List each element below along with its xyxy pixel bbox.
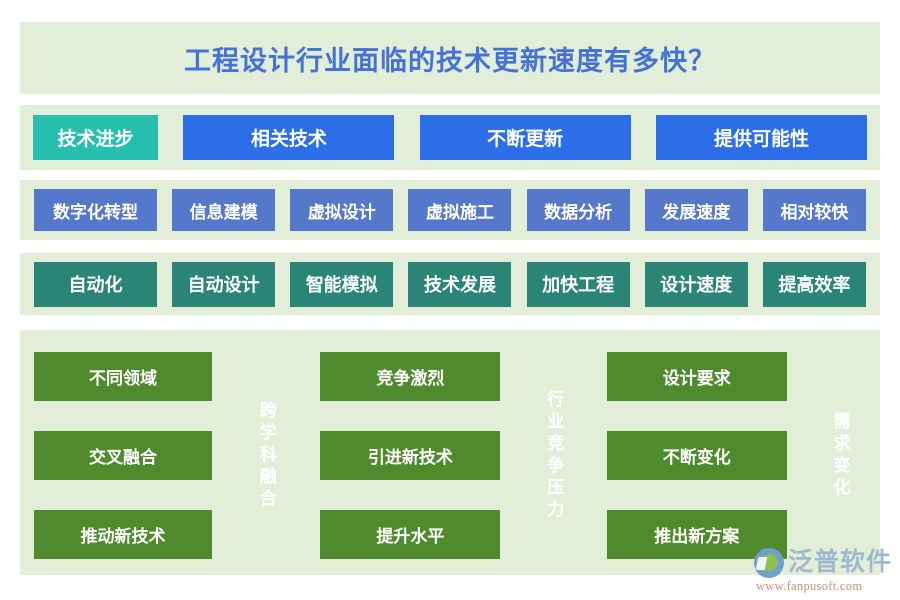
chip-bottom-g1-0[interactable]: 不同领域 (34, 352, 212, 401)
bottom-matrix-panel: 不同领域 交叉融合 推动新技术 跨学科融合 竞争激烈 引进新技术 提升水平 行业… (20, 330, 880, 575)
chip-bottom-g2-0[interactable]: 竞争激烈 (320, 352, 500, 401)
logo-website-url: www.fanpusoft.com (756, 580, 862, 593)
chip-row3-3[interactable]: 技术发展 (408, 262, 511, 307)
group-demand-items: 设计要求 不断变化 推出新方案 (607, 352, 787, 559)
chip-bottom-g2-1[interactable]: 引进新技术 (320, 431, 500, 480)
logo-brand-name: 泛普软件 (788, 550, 892, 575)
chip-row3-0[interactable]: 自动化 (34, 262, 157, 307)
column-industry-competition-pressure[interactable]: 行业竞争压力 (528, 352, 580, 559)
chip-bottom-g3-0[interactable]: 设计要求 (607, 352, 787, 401)
chip-row3-4[interactable]: 加快工程 (527, 262, 630, 307)
chip-row2-2[interactable]: 虚拟设计 (290, 189, 393, 231)
fanpu-leaf-icon (754, 548, 784, 578)
chip-row1-3[interactable]: 提供可能性 (656, 115, 867, 160)
row-2-digital-transformation: 数字化转型 信息建模 虚拟设计 虚拟施工 数据分析 发展速度 相对较快 (20, 180, 880, 240)
chip-bottom-g2-2[interactable]: 提升水平 (320, 510, 500, 559)
row-3-automation: 自动化 自动设计 智能模拟 技术发展 加快工程 设计速度 提高效率 (20, 253, 880, 315)
chip-row3-5[interactable]: 设计速度 (645, 262, 748, 307)
infographic-page: 工程设计行业面临的技术更新速度有多快？ 技术进步 相关技术 不断更新 提供可能性… (0, 0, 900, 600)
chip-row1-0[interactable]: 技术进步 (33, 115, 158, 160)
chip-row3-1[interactable]: 自动设计 (172, 262, 275, 307)
chip-row2-0[interactable]: 数字化转型 (34, 189, 157, 231)
column-demand-change[interactable]: 需求变化 (814, 352, 866, 559)
group-competition-items: 竞争激烈 引进新技术 提升水平 (320, 352, 500, 559)
chip-bottom-g3-1[interactable]: 不断变化 (607, 431, 787, 480)
row-1-technology-progress: 技术进步 相关技术 不断更新 提供可能性 (20, 105, 880, 170)
page-title: 工程设计行业面临的技术更新速度有多快？ (184, 39, 716, 78)
chip-row2-5[interactable]: 发展速度 (645, 189, 748, 231)
chip-row1-1[interactable]: 相关技术 (183, 115, 394, 160)
chip-bottom-g1-2[interactable]: 推动新技术 (34, 510, 212, 559)
column-cross-discipline-fusion[interactable]: 跨学科融合 (239, 352, 293, 559)
chip-row3-2[interactable]: 智能模拟 (290, 262, 393, 307)
group-cross-discipline-left: 不同领域 交叉融合 推动新技术 (34, 352, 212, 559)
chip-row2-1[interactable]: 信息建模 (172, 189, 275, 231)
title-banner: 工程设计行业面临的技术更新速度有多快？ (20, 22, 880, 94)
chip-row3-6[interactable]: 提高效率 (763, 262, 866, 307)
logo-wordmark-row: 泛普软件 (754, 548, 892, 578)
chip-row1-2[interactable]: 不断更新 (420, 115, 631, 160)
chip-bottom-g1-1[interactable]: 交叉融合 (34, 431, 212, 480)
chip-row2-3[interactable]: 虚拟施工 (408, 189, 511, 231)
chip-row2-6[interactable]: 相对较快 (763, 189, 866, 231)
brand-logo: 泛普软件 www.fanpusoft.com (754, 548, 892, 593)
chip-row2-4[interactable]: 数据分析 (527, 189, 630, 231)
